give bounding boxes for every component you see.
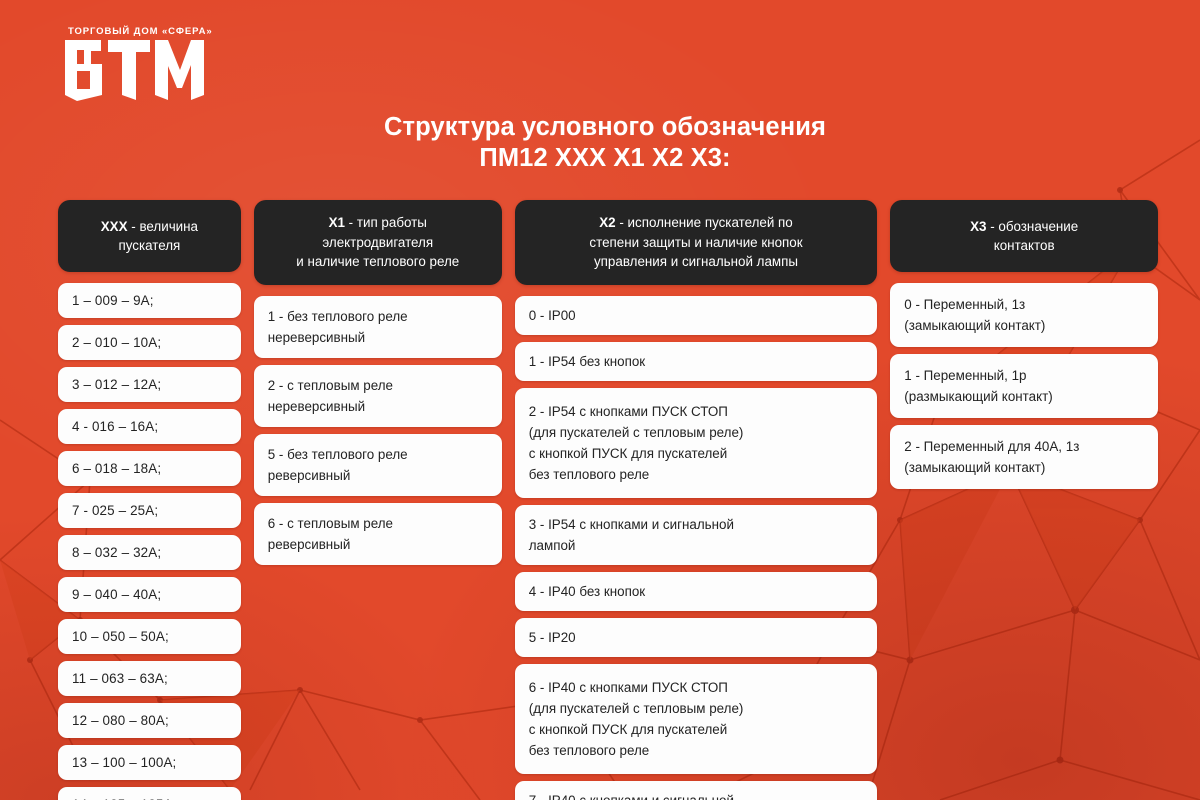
list-item: 14 – 125 – 125А; bbox=[58, 787, 241, 800]
list-item: 9 – 040 – 40А; bbox=[58, 577, 241, 612]
list-item: 2 - IP54 с кнопками ПУСК СТОП (для пуска… bbox=[515, 388, 878, 498]
list-item: 6 - IP40 с кнопками ПУСК СТОП (для пуска… bbox=[515, 664, 878, 774]
column-header-x3: Х3 - обозначение контактов bbox=[890, 200, 1158, 272]
column-x3: Х3 - обозначение контактов 0 - Переменны… bbox=[890, 200, 1158, 489]
list-item: 6 - с тепловым реле реверсивный bbox=[254, 503, 502, 565]
column-header-x1: Х1 - тип работы электродвигателя и налич… bbox=[254, 200, 502, 285]
column-items-x1: 1 - без теплового реле нереверсивный2 - … bbox=[254, 296, 502, 565]
list-item: 5 - без теплового реле реверсивный bbox=[254, 434, 502, 496]
column-items-x2: 0 - IP001 - IP54 без кнопок2 - IP54 с кн… bbox=[515, 296, 878, 800]
list-item: 0 - Переменный, 1з (замыкающий контакт) bbox=[890, 283, 1158, 347]
list-item: 8 – 032 – 32А; bbox=[58, 535, 241, 570]
company-logo: ТОРГОВЫЙ ДОМ «СФЕРА» bbox=[62, 26, 212, 106]
list-item: 7 - 025 – 25А; bbox=[58, 493, 241, 528]
list-item: 4 - IP40 без кнопок bbox=[515, 572, 878, 611]
column-x1: Х1 - тип работы электродвигателя и налич… bbox=[254, 200, 502, 565]
list-item: 2 – 010 – 10А; bbox=[58, 325, 241, 360]
list-item: 3 – 012 – 12А; bbox=[58, 367, 241, 402]
logo-tagline: ТОРГОВЫЙ ДОМ «СФЕРА» bbox=[68, 26, 208, 37]
page-title-line-1: Структура условного обозначения bbox=[260, 112, 950, 143]
column-header-x2: Х2 - исполнение пускателей по степени за… bbox=[515, 200, 878, 285]
column-code-x2: Х2 bbox=[599, 215, 615, 230]
column-header-text-x2: - исполнение пускателей по степени защит… bbox=[589, 215, 802, 269]
list-item: 1 – 009 – 9А; bbox=[58, 283, 241, 318]
column-code-x3: Х3 bbox=[970, 219, 986, 234]
list-item: 10 – 050 – 50А; bbox=[58, 619, 241, 654]
list-item: 7 - IP40 с кнопками и сигнальной лампой bbox=[515, 781, 878, 800]
column-x2: Х2 - исполнение пускателей по степени за… bbox=[515, 200, 878, 800]
list-item: 1 - IP54 без кнопок bbox=[515, 342, 878, 381]
list-item: 2 - с тепловым реле нереверсивный bbox=[254, 365, 502, 427]
column-header-text-x1: - тип работы электродвигателя и наличие … bbox=[296, 215, 459, 269]
page-title: Структура условного обозначения ПМ12 ХХХ… bbox=[260, 112, 950, 174]
list-item: 11 – 063 – 63А; bbox=[58, 661, 241, 696]
logo-wordmark-btm bbox=[62, 39, 207, 101]
list-item: 12 – 080 – 80А; bbox=[58, 703, 241, 738]
list-item: 3 - IP54 с кнопками и сигнальной лампой bbox=[515, 505, 878, 565]
column-header-xxx: ХХХ - величина пускателя bbox=[58, 200, 241, 272]
column-xxx: ХХХ - величина пускателя 1 – 009 – 9А;2 … bbox=[58, 200, 241, 800]
column-items-xxx: 1 – 009 – 9А;2 – 010 – 10А;3 – 012 – 12А… bbox=[58, 283, 241, 800]
column-items-x3: 0 - Переменный, 1з (замыкающий контакт)1… bbox=[890, 283, 1158, 489]
page-title-line-2: ПМ12 ХХХ Х1 Х2 Х3: bbox=[260, 143, 950, 174]
list-item: 2 - Переменный для 40А, 1з (замыкающий к… bbox=[890, 425, 1158, 489]
column-code-x1: Х1 bbox=[329, 215, 345, 230]
list-item: 0 - IP00 bbox=[515, 296, 878, 335]
list-item: 5 - IP20 bbox=[515, 618, 878, 657]
list-item: 13 – 100 – 100А; bbox=[58, 745, 241, 780]
infographic-page: ТОРГОВЫЙ ДОМ «СФЕРА» Структура условного… bbox=[0, 0, 1200, 800]
list-item: 1 - без теплового реле нереверсивный bbox=[254, 296, 502, 358]
column-header-text-x3: - обозначение контактов bbox=[986, 219, 1078, 254]
column-header-text-xxx: - величина пускателя bbox=[118, 219, 198, 254]
list-item: 4 - 016 – 16А; bbox=[58, 409, 241, 444]
column-code-xxx: ХХХ bbox=[101, 219, 128, 234]
list-item: 1 - Переменный, 1р (размыкающий контакт) bbox=[890, 354, 1158, 418]
list-item: 6 – 018 – 18А; bbox=[58, 451, 241, 486]
designation-columns: ХХХ - величина пускателя 1 – 009 – 9А;2 … bbox=[58, 200, 1158, 800]
